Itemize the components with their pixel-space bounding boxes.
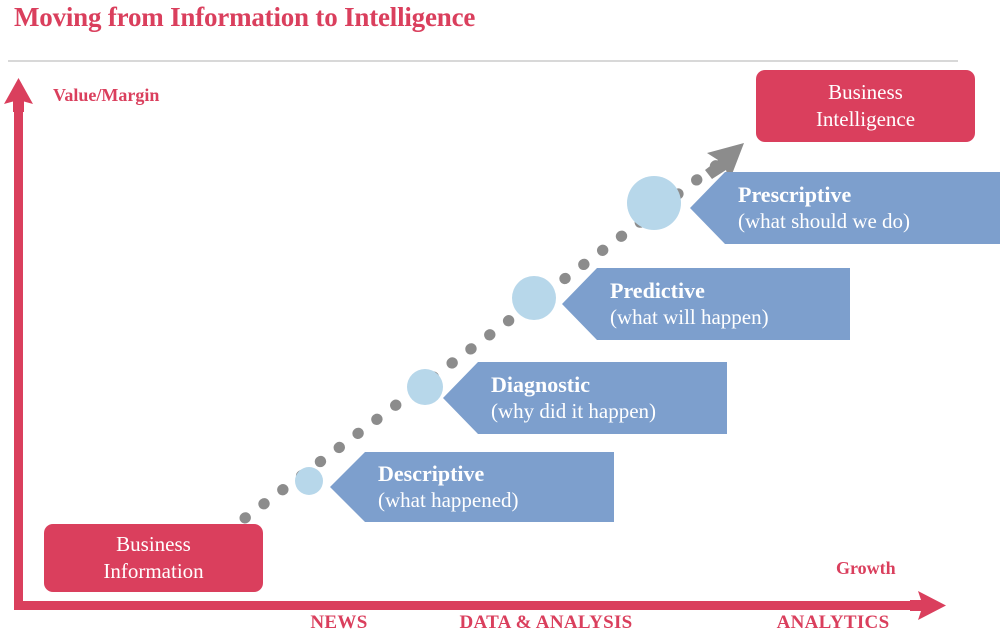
stage-diagnostic-title: Diagnostic	[491, 372, 727, 398]
endpoint-binf-line2: Information	[103, 558, 203, 585]
endpoint-bi-line1: Business	[828, 79, 903, 106]
stage-descriptive[interactable]: Descriptive (what happened)	[330, 452, 614, 522]
y-axis-label: Value/Margin	[53, 85, 159, 106]
y-axis-arrowhead	[4, 78, 33, 112]
stage-predictive[interactable]: Predictive (what will happen)	[562, 268, 850, 340]
x-tick-news: NEWS	[310, 612, 367, 634]
stage-descriptive-title: Descriptive	[378, 461, 614, 487]
stage-predictive-title: Predictive	[610, 278, 850, 304]
stage-diagnostic[interactable]: Diagnostic (why did it happen)	[443, 362, 727, 434]
stage-predictive-question: (what will happen)	[610, 304, 850, 330]
endpoint-business-intelligence[interactable]: Business Intelligence	[756, 70, 975, 142]
x-axis-label: Growth	[836, 558, 896, 579]
endpoint-business-information[interactable]: Business Information	[44, 524, 263, 592]
infographic-canvas: Moving from Information to Intelligence …	[0, 0, 1000, 638]
y-axis-line	[14, 100, 23, 610]
stage-prescriptive-question: (what should we do)	[738, 208, 1000, 234]
x-axis-arrowhead	[910, 591, 946, 620]
endpoint-binf-line1: Business	[116, 531, 191, 558]
stage-descriptive-question: (what happened)	[378, 487, 614, 513]
endpoint-bi-line2: Intelligence	[816, 106, 915, 133]
stage-diagnostic-question: (why did it happen)	[491, 398, 727, 424]
stage-prescriptive-title: Prescriptive	[738, 182, 1000, 208]
x-tick-data-analysis: DATA & ANALYSIS	[459, 612, 632, 634]
stage-prescriptive[interactable]: Prescriptive (what should we do)	[690, 172, 1000, 244]
x-axis-line	[14, 601, 924, 610]
x-tick-analytics: ANALYTICS	[777, 612, 890, 634]
